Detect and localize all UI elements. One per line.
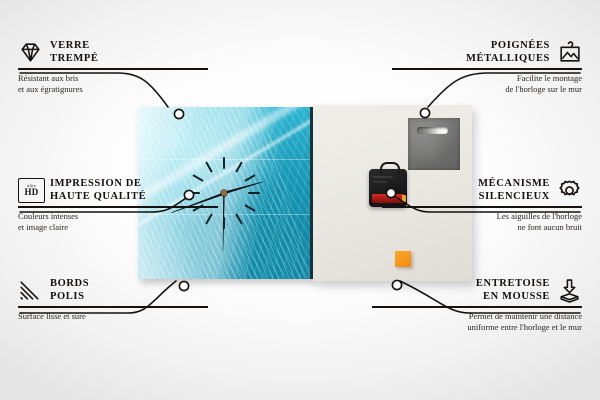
callout-title: BORDS POLIS (50, 278, 89, 303)
foam-spacer (395, 251, 411, 267)
callout-header: ultra HD IMPRESSION DE HAUTE QUALITÉ (18, 178, 218, 203)
foam-spacer-icon (557, 278, 582, 303)
callout-header: BORDS POLIS (18, 278, 208, 303)
ultra-hd-icon: ultra HD (18, 178, 43, 203)
callout-subtitle: Permet de maintenir une distance uniform… (372, 311, 582, 333)
callout-header: VERRE TREMPÉ (18, 40, 208, 65)
product-infographic: VERRE TREMPÉ Résistant aux bris et aux é… (0, 0, 600, 400)
callout-bords-polis: BORDS POLIS Surface lisse et sûre (18, 278, 208, 322)
callout-title: VERRE TREMPÉ (50, 40, 99, 65)
callout-divider (392, 68, 582, 70)
callout-mecanisme-silencieux: MÉCANISME SILENCIEUX Les aiguilles de l'… (382, 178, 582, 233)
callout-divider (18, 206, 218, 208)
callout-poignees-metalliques: POIGNÉES MÉTALLIQUES Facilite le montage… (392, 40, 582, 95)
mechanism-hanging-loop (380, 162, 400, 174)
callout-divider (372, 306, 582, 308)
hanger-slot (417, 127, 448, 134)
metal-hanger-plate (408, 118, 460, 170)
callout-subtitle: Les aiguilles de l'horloge ne font aucun… (382, 211, 582, 233)
callout-subtitle: Surface lisse et sûre (18, 311, 208, 322)
callout-divider (18, 306, 208, 308)
callout-verre-trempe: VERRE TREMPÉ Résistant aux bris et aux é… (18, 40, 208, 95)
callout-title: MÉCANISME SILENCIEUX (478, 178, 550, 203)
polished-edge-icon (18, 278, 43, 303)
callout-header: ENTRETOISE EN MOUSSE (372, 278, 582, 303)
callout-divider (18, 68, 208, 70)
callout-header: MÉCANISME SILENCIEUX (382, 178, 582, 203)
callout-title: ENTRETOISE EN MOUSSE (476, 278, 550, 303)
callout-header: POIGNÉES MÉTALLIQUES (392, 40, 582, 65)
gear-icon (557, 178, 582, 203)
callout-subtitle: Facilite le montage de l'horloge sur le … (392, 73, 582, 95)
callout-entretoise-en-mousse: ENTRETOISE EN MOUSSE Permet de maintenir… (372, 278, 582, 333)
callout-title: IMPRESSION DE HAUTE QUALITÉ (50, 178, 146, 203)
picture-hanger-icon (557, 40, 582, 65)
callout-title: POIGNÉES MÉTALLIQUES (466, 40, 550, 65)
clock-center-cap (221, 190, 227, 196)
callout-impression-haute-qualite: ultra HD IMPRESSION DE HAUTE QUALITÉ Cou… (18, 178, 218, 233)
diamond-icon (18, 40, 43, 65)
callout-subtitle: Résistant aux bris et aux égratignures (18, 73, 208, 95)
callout-subtitle: Couleurs intenses et image claire (18, 211, 218, 233)
callout-divider (382, 206, 582, 208)
